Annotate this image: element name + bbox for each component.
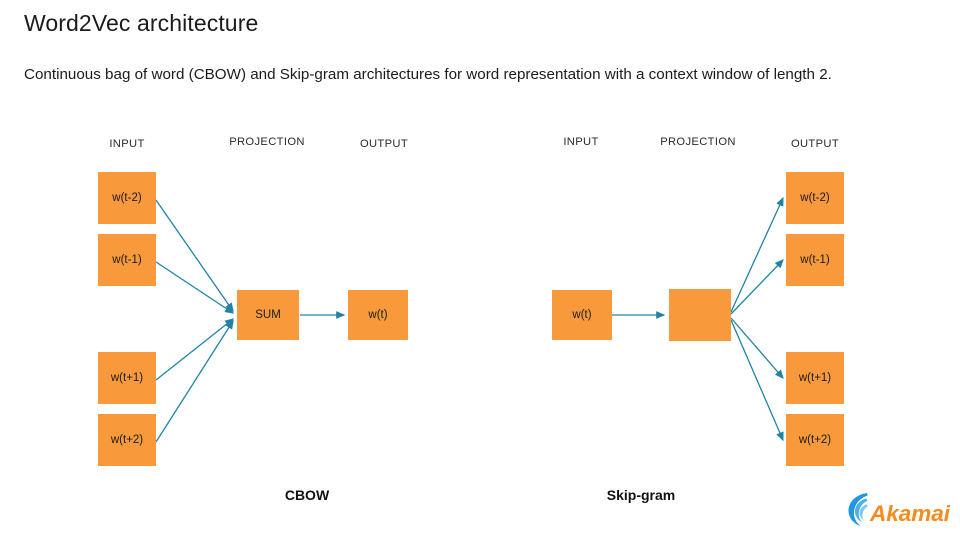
skipgram-output-node-w-t-1: w(t-1)	[786, 234, 844, 286]
cbow-projection-node-sum: SUM	[237, 290, 299, 340]
cbow-header-input: INPUT	[109, 138, 144, 150]
cbow-input-edges	[156, 200, 233, 442]
cbow-header-output: OUTPUT	[360, 138, 408, 150]
cbow-caption: CBOW	[285, 487, 329, 503]
cbow-header-projection: PROJECTION	[229, 136, 305, 148]
cbow-output-node-w-t: w(t)	[348, 290, 408, 340]
cbow-input-node-w-t-plus-2: w(t+2)	[98, 414, 156, 466]
skipgram-header-projection: PROJECTION	[660, 136, 736, 148]
skipgram-output-edges	[731, 198, 783, 440]
word2vec-architecture-figure: INPUT PROJECTION OUTPUT w(t-2) w(t-1) w(…	[0, 0, 960, 540]
cbow-input-node-w-t-2: w(t-2)	[98, 172, 156, 224]
akamai-wave-icon	[849, 493, 868, 526]
skipgram-projection-node	[669, 289, 731, 341]
skipgram-caption: Skip-gram	[607, 487, 675, 503]
akamai-logo: Akamai	[845, 489, 953, 531]
skipgram-header-input: INPUT	[563, 136, 598, 148]
akamai-wordmark: Akamai	[869, 501, 951, 526]
cbow-input-node-w-t-1: w(t-1)	[98, 234, 156, 286]
skipgram-output-node-w-t-plus-1: w(t+1)	[786, 352, 844, 404]
cbow-input-node-w-t-plus-1: w(t+1)	[98, 352, 156, 404]
skipgram-output-node-w-t-2: w(t-2)	[786, 172, 844, 224]
skipgram-input-node-w-t: w(t)	[552, 290, 612, 340]
slide-canvas: Word2Vec architecture Continuous bag of …	[0, 0, 960, 540]
skipgram-output-node-w-t-plus-2: w(t+2)	[786, 414, 844, 466]
skipgram-header-output: OUTPUT	[791, 138, 839, 150]
